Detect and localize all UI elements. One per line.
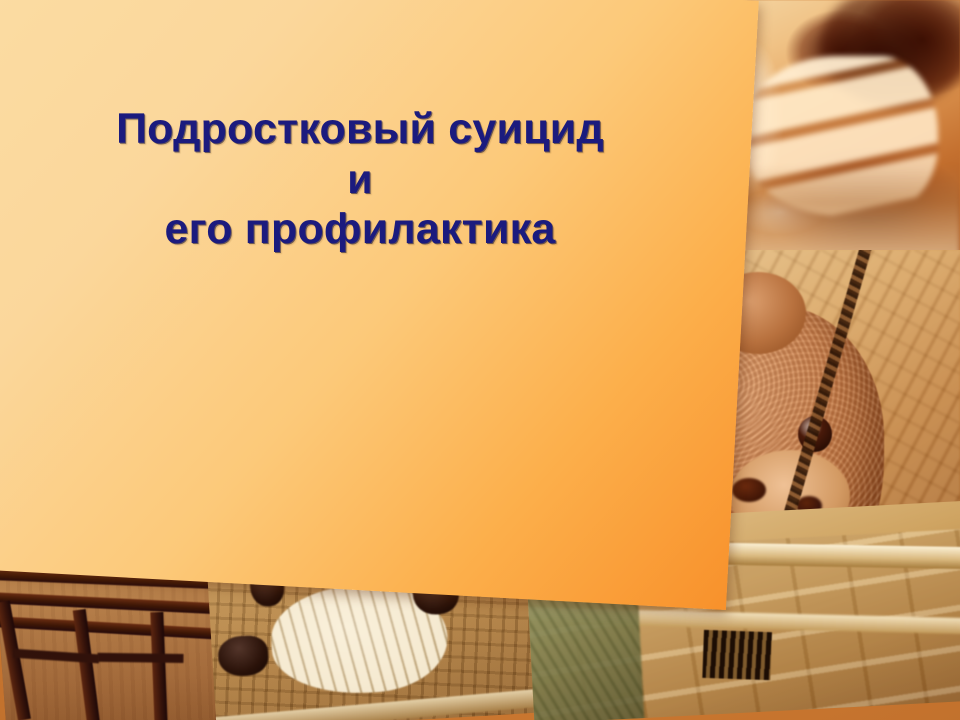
bystander-figure: [217, 635, 269, 678]
building-window-grille: [702, 630, 772, 680]
bench-brace: [97, 653, 183, 663]
tilted-title-card: [0, 0, 759, 610]
bear-nose: [732, 478, 766, 502]
title-line-2: и: [30, 154, 690, 204]
title-slide: Подростковый суицид и его профилактика: [0, 0, 960, 720]
title-line-3: его профилактика: [30, 204, 690, 254]
page-title: Подростковый суицид и его профилактика: [30, 104, 690, 254]
title-line-1: Подростковый суицид: [30, 104, 690, 154]
